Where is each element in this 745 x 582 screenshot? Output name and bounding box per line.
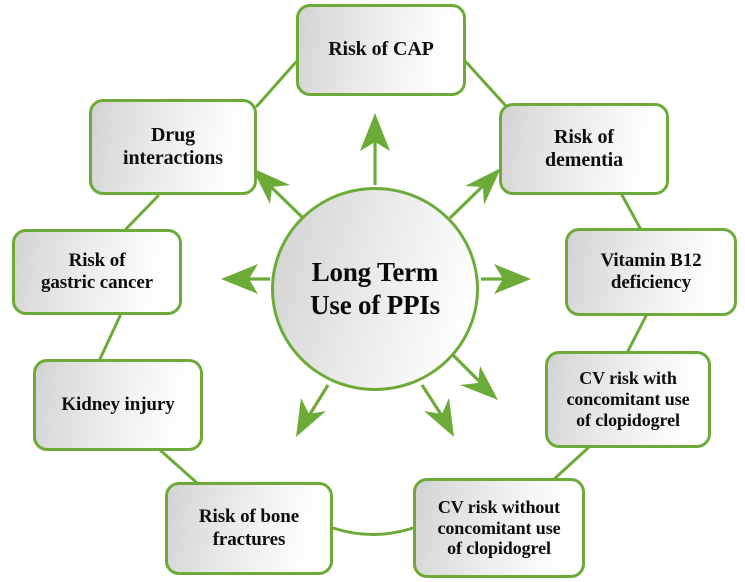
node-risk-of-cap[interactable]: Risk of CAP (296, 4, 466, 96)
node-label-drug-interactions: Drug interactions (119, 124, 227, 170)
arrow-up (360, 113, 390, 185)
node-label-cv-risk-with-clopidogrel: CV risk with concomitant use of clopidog… (563, 368, 694, 431)
node-drug-interactions[interactable]: Drug interactions (89, 99, 257, 195)
connector-kidney-gastric (100, 316, 120, 359)
connector-gastric-drug (126, 196, 158, 229)
connector-cap-drug (257, 62, 296, 106)
node-risk-of-bone-fractures[interactable]: Risk of bone fractures (165, 482, 333, 575)
node-risk-of-gastric-cancer[interactable]: Risk of gastric cancer (12, 229, 182, 315)
center-node[interactable]: Long Term Use of PPIs (271, 187, 479, 391)
arrow-down (422, 385, 454, 437)
connector-fractures-kidney (160, 450, 196, 482)
diagram-canvas: Long Term Use of PPIs Risk of CAP Risk o… (0, 0, 745, 582)
node-label-cv-risk-without-clopidogrel: CV risk without concomitant use of clopi… (434, 497, 565, 560)
connector-cap-dementia (466, 62, 506, 106)
node-label-risk-of-dementia: Risk of dementia (541, 126, 627, 172)
node-cv-risk-without-clopidogrel[interactable]: CV risk without concomitant use of clopi… (413, 478, 585, 578)
connector-b12-cvwith (628, 316, 646, 351)
arrow-down-right (450, 352, 498, 400)
node-risk-of-dementia[interactable]: Risk of dementia (499, 103, 669, 195)
node-cv-risk-with-clopidogrel[interactable]: CV risk with concomitant use of clopidog… (545, 351, 711, 448)
arrow-left (221, 264, 270, 294)
node-label-risk-of-gastric-cancer: Risk of gastric cancer (37, 250, 157, 294)
center-node-label: Long Term Use of PPIs (310, 256, 440, 322)
connector-cvwith-cvwithout (552, 448, 588, 481)
connector-cvwithout-fractures (333, 528, 413, 535)
node-vitamin-b12-deficiency[interactable]: Vitamin B12 deficiency (565, 228, 737, 316)
node-label-risk-of-cap: Risk of CAP (324, 38, 438, 61)
connector-dementia-b12 (622, 195, 640, 228)
arrow-up-right (450, 168, 501, 218)
node-label-kidney-injury: Kidney injury (57, 394, 178, 416)
node-kidney-injury[interactable]: Kidney injury (33, 359, 203, 451)
node-label-vitamin-b12-deficiency: Vitamin B12 deficiency (596, 250, 705, 294)
arrow-down-left (296, 385, 328, 437)
arrow-up-left (252, 168, 303, 218)
node-label-risk-of-bone-fractures: Risk of bone fractures (195, 506, 303, 550)
arrow-right (481, 264, 531, 294)
